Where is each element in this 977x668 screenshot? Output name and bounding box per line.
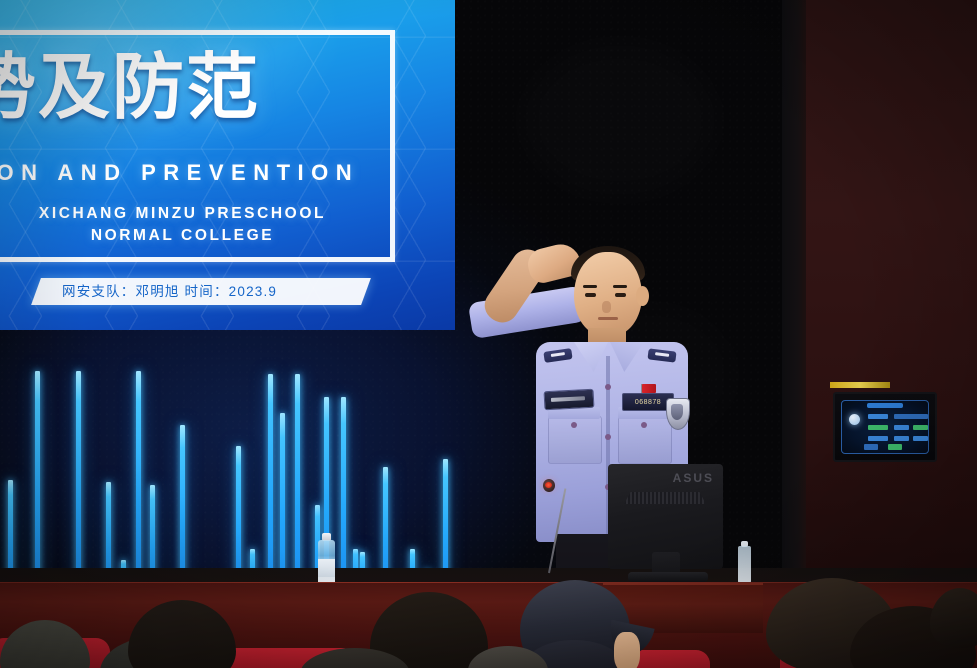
panel-button[interactable]	[864, 444, 878, 450]
equalizer-bar	[295, 374, 300, 588]
shirt-button	[605, 434, 611, 440]
panel-key[interactable]	[894, 414, 928, 419]
led-equalizer-bars	[0, 330, 470, 588]
water-bottle	[738, 541, 751, 583]
rank-bar	[551, 352, 565, 357]
slide-college-name: XICHANG MINZU PRESCHOOL NORMAL COLLEGE	[10, 203, 355, 248]
speaker-banner: 网安支队：邓明旭 时间：2023.9	[31, 278, 371, 305]
college-line-1: XICHANG MINZU PRESCHOOL	[10, 203, 355, 225]
patch-emblem	[671, 404, 683, 420]
panel-key[interactable]	[913, 436, 928, 441]
speaker-banner-text: 网安支队：邓明旭 时间：2023.9	[62, 278, 277, 305]
wall-blotch	[520, 40, 720, 200]
monitor-base	[628, 572, 708, 582]
monitor-vent	[624, 492, 706, 504]
name-tag-text	[551, 396, 585, 402]
equalizer-bar	[268, 374, 273, 588]
water-bottle	[318, 533, 335, 585]
panel-key[interactable]	[894, 425, 909, 430]
nose	[602, 301, 611, 313]
eyebrow	[583, 285, 597, 288]
panel-key[interactable]	[894, 436, 909, 441]
asus-logo: ASUS	[673, 471, 714, 485]
equalizer-bar	[236, 446, 241, 588]
shirt-button	[605, 384, 611, 390]
wall-edge	[782, 0, 808, 600]
equalizer-bar	[180, 425, 185, 588]
bottle-body	[738, 546, 751, 583]
eye	[585, 293, 596, 297]
rank-bar	[655, 352, 669, 357]
panel-label-strip	[830, 382, 890, 388]
bottle-label	[318, 559, 335, 577]
panel-key[interactable]	[868, 425, 888, 430]
eye	[615, 293, 626, 297]
equalizer-bar	[341, 397, 346, 588]
wall-control-panel[interactable]	[833, 392, 937, 462]
panel-key[interactable]	[913, 425, 928, 430]
panel-key[interactable]	[868, 414, 888, 419]
audience-hand	[614, 632, 640, 668]
equalizer-bar	[76, 371, 81, 588]
equalizer-bar	[280, 413, 285, 588]
side-wall	[806, 0, 977, 600]
lecture-hall-photo: 势及防范 TION AND PREVENTION XICHANG MINZU P…	[0, 0, 977, 668]
china-flag-pin	[642, 384, 656, 393]
microphone-led-icon	[545, 482, 552, 488]
ear	[636, 286, 649, 306]
college-line-2: NORMAL COLLEGE	[10, 225, 355, 247]
pocket-button	[641, 422, 647, 428]
equalizer-bar	[35, 371, 40, 588]
panel-screen[interactable]	[841, 400, 929, 454]
equalizer-bar	[136, 371, 141, 588]
eyebrow	[613, 285, 627, 288]
panel-header-bar	[867, 403, 903, 408]
slide-chinese-title: 势及防范	[0, 52, 384, 124]
panel-indicator-icon	[849, 414, 860, 425]
mouth	[598, 317, 618, 320]
presentation-slide: 势及防范 TION AND PREVENTION XICHANG MINZU P…	[0, 0, 455, 330]
pocket-button	[571, 422, 577, 428]
name-tag	[544, 389, 595, 411]
panel-key[interactable]	[868, 436, 888, 441]
panel-button[interactable]	[888, 444, 902, 450]
slide-english-title: TION AND PREVENTION	[0, 160, 392, 186]
